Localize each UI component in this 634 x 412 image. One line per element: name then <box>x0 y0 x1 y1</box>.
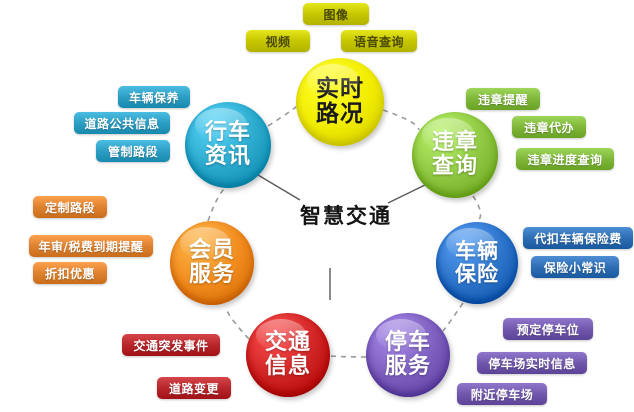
leaf-label-parking-service-0[interactable]: 预定停车位 <box>503 318 593 340</box>
hub-realtime-traffic[interactable]: 实时路况 <box>296 58 384 146</box>
leaf-label-member-service-0[interactable]: 定制路段 <box>33 196 107 218</box>
hub-label-line: 违章 <box>432 131 478 155</box>
leaf-label-traffic-info-0[interactable]: 交通突发事件 <box>122 334 220 356</box>
hub-label-line: 信息 <box>265 355 311 379</box>
hub-label-line: 会员 <box>189 239 235 263</box>
hub-driving-info[interactable]: 行车资讯 <box>185 102 271 188</box>
leaf-label-driving-info-1[interactable]: 道路公共信息 <box>74 112 170 134</box>
hub-label-line: 行车 <box>205 121 251 145</box>
hub-vehicle-insurance[interactable]: 车辆保险 <box>436 222 518 304</box>
hub-label-line: 资讯 <box>205 145 251 169</box>
leaf-label-driving-info-0[interactable]: 车辆保养 <box>118 86 190 108</box>
hub-violation-query[interactable]: 违章查询 <box>412 112 498 198</box>
leaf-label-violation-query-2[interactable]: 违章进度查询 <box>516 148 614 170</box>
hub-traffic-info[interactable]: 交通信息 <box>246 313 330 397</box>
leaf-label-driving-info-2[interactable]: 管制路段 <box>96 140 170 162</box>
hub-member-service[interactable]: 会员服务 <box>170 221 254 305</box>
leaf-label-realtime-traffic-2[interactable]: 语音查询 <box>341 30 417 52</box>
leaf-label-vehicle-insurance-0[interactable]: 代扣车辆保险费 <box>523 227 633 249</box>
hub-label-line: 服务 <box>189 263 235 287</box>
hub-label-line: 路况 <box>316 102 364 127</box>
diagram-canvas: 智慧交通 实时路况行车资讯违章查询车辆保险停车服务交通信息会员服务 图像视频语音… <box>0 0 634 412</box>
hub-label-line: 服务 <box>385 355 431 379</box>
leaf-label-violation-query-0[interactable]: 违章提醒 <box>466 88 540 110</box>
leaf-label-member-service-1[interactable]: 年审/税费到期提醒 <box>29 235 153 257</box>
hub-label-line: 实时 <box>316 77 364 102</box>
hub-parking-service[interactable]: 停车服务 <box>366 313 450 397</box>
leaf-label-traffic-info-1[interactable]: 道路变更 <box>157 377 231 399</box>
leaf-label-violation-query-1[interactable]: 违章代办 <box>512 116 586 138</box>
leaf-label-parking-service-2[interactable]: 附近停车场 <box>457 383 547 405</box>
leaf-label-realtime-traffic-0[interactable]: 图像 <box>303 3 369 25</box>
leaf-label-vehicle-insurance-1[interactable]: 保险小常识 <box>531 256 619 278</box>
hub-label-line: 交通 <box>265 331 311 355</box>
center-title: 智慧交通 <box>300 200 392 230</box>
leaf-label-parking-service-1[interactable]: 停车场实时信息 <box>477 352 587 374</box>
leaf-label-member-service-2[interactable]: 折扣优惠 <box>33 262 107 284</box>
hub-label-line: 停车 <box>385 331 431 355</box>
hub-label-line: 车辆 <box>455 240 499 263</box>
hub-label-line: 保险 <box>455 263 499 286</box>
hub-label-line: 查询 <box>432 155 478 179</box>
leaf-label-realtime-traffic-1[interactable]: 视频 <box>246 30 310 52</box>
